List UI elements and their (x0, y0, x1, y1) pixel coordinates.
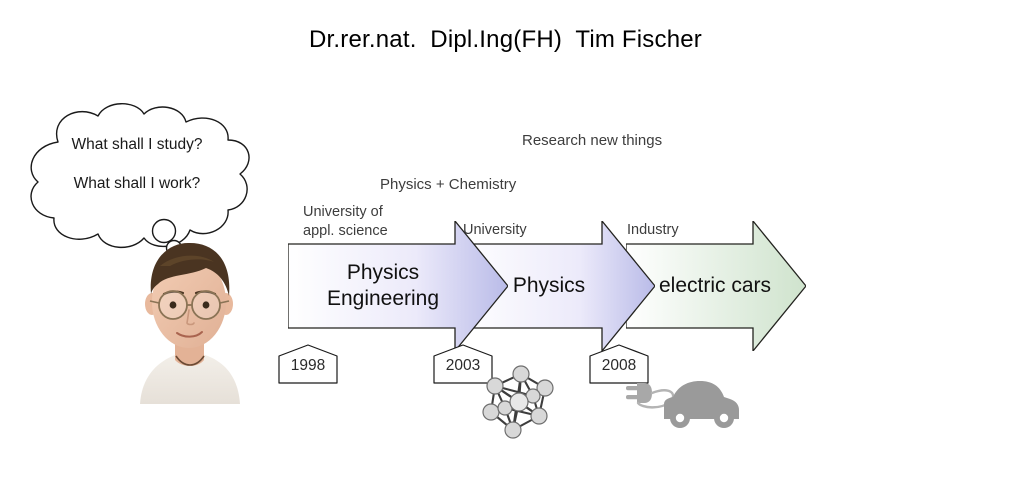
caption-university: University (463, 221, 527, 240)
portrait-photo-illustration (130, 232, 248, 404)
molecule-cluster-icon (475, 362, 567, 444)
annotation-research-new-things: Research new things (522, 131, 662, 150)
page-title: Dr.rer.nat. Dipl.Ing(FH) Tim Fischer (0, 26, 1011, 54)
year-tag-1998[interactable]: 1998 (277, 344, 339, 384)
molecule-cluster-illustration (475, 362, 567, 444)
portrait-photo (130, 232, 248, 404)
year-tag-label: 1998 (277, 357, 339, 375)
caption-industry: Industry (627, 221, 679, 240)
thought-bubble-line-1: What shall I study? (22, 136, 252, 154)
slide-canvas: Dr.rer.nat. Dipl.Ing(FH) Tim Fischer Wha… (0, 0, 1011, 491)
arrow-shape-university-applied-science (288, 221, 508, 351)
caption-university-of-applied-science: University of appl. science (303, 203, 388, 240)
electric-car-plug-icon (626, 374, 742, 430)
year-tag-label: 2008 (588, 357, 650, 375)
annotation-physics-chemistry: Physics + Chemistry (380, 175, 516, 194)
timeline-stage-university-applied-science[interactable]: Physics Engineering (288, 221, 508, 351)
electric-car-illustration (626, 374, 742, 430)
thought-bubble-line-2: What shall I work? (22, 175, 252, 193)
